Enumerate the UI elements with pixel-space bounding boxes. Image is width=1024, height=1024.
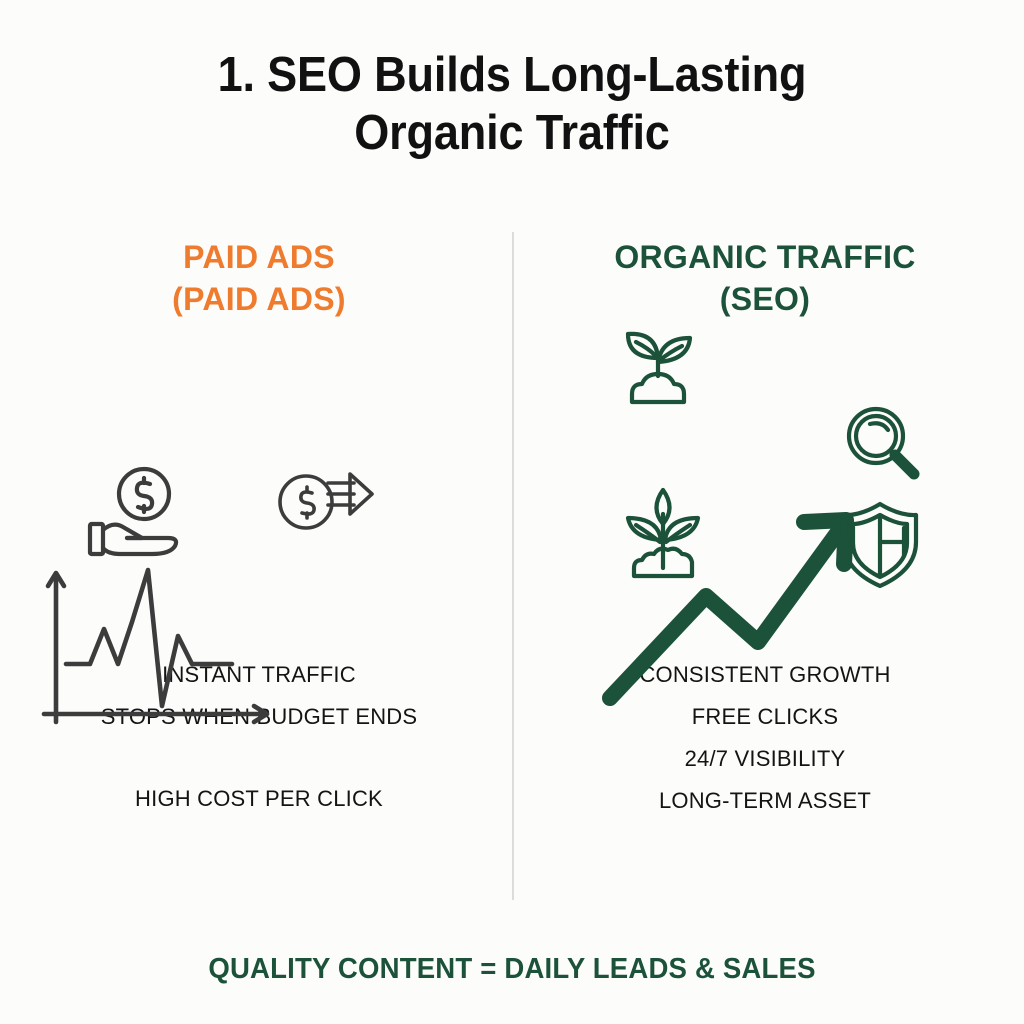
infographic-canvas: 1. SEO Builds Long-Lasting Organic Traff…	[0, 0, 1024, 1024]
sprout-icon	[616, 326, 700, 410]
volatile-line-chart-icon	[32, 564, 280, 730]
paid-ads-artwork	[24, 320, 494, 650]
organic-traffic-heading-line-2: (SEO)	[530, 278, 1000, 320]
title-line-2: Organic Traffic	[41, 104, 983, 162]
plant-icon	[614, 484, 712, 582]
shield-icon	[836, 498, 924, 590]
list-item: LONG-TERM ASSET	[530, 780, 1000, 822]
column-organic-traffic: ORGANIC TRAFFIC (SEO)	[530, 236, 1000, 822]
title-line-1: 1. SEO Builds Long-Lasting	[41, 46, 983, 104]
paid-ads-heading-line-2: (PAID ADS)	[24, 278, 494, 320]
footer-banner: QUALITY CONTENT = DAILY LEADS & SALES	[0, 953, 1024, 986]
paid-ads-heading-line-1: PAID ADS	[24, 236, 494, 278]
organic-traffic-heading-line-1: ORGANIC TRAFFIC	[530, 236, 1000, 278]
list-item: HIGH COST PER CLICK	[24, 778, 494, 820]
magnifier-icon	[840, 402, 926, 488]
money-outflow-icon	[276, 470, 376, 534]
column-divider	[512, 232, 514, 900]
footer-text: QUALITY CONTENT = DAILY LEADS & SALES	[26, 953, 999, 986]
column-paid-ads: PAID ADS (PAID ADS)	[24, 236, 494, 820]
organic-traffic-artwork	[530, 320, 1000, 650]
list-item: 24/7 VISIBILITY	[530, 738, 1000, 780]
hand-holding-money-icon	[86, 466, 198, 558]
page-title: 1. SEO Builds Long-Lasting Organic Traff…	[0, 46, 1024, 162]
